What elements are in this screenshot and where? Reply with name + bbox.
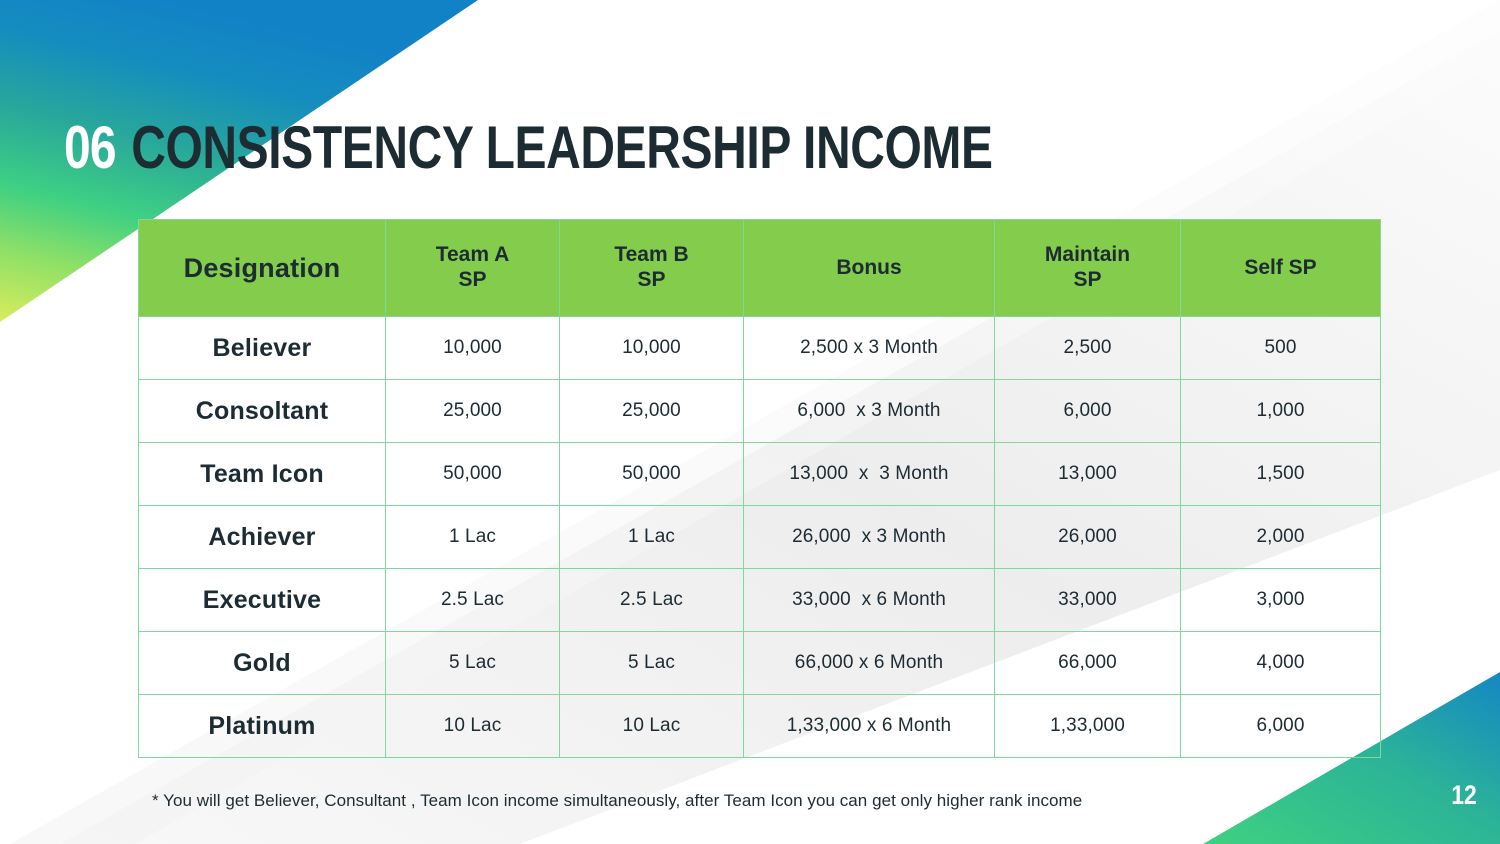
cell-self-sp: 1,000 (1181, 380, 1381, 443)
cell-maintain-sp: 2,500 (995, 317, 1181, 380)
cell-maintain-sp: 1,33,000 (995, 695, 1181, 758)
cell-designation: Achiever (139, 506, 386, 569)
column-header-team-a-line2: SP (392, 268, 553, 293)
cell-team-b-sp: 10 Lac (560, 695, 744, 758)
cell-bonus: 33,000 x 6 Month (744, 569, 995, 632)
income-table: Designation Team A SP Team B SP Bonus Ma… (138, 219, 1381, 758)
cell-maintain-sp: 66,000 (995, 632, 1181, 695)
cell-designation: Believer (139, 317, 386, 380)
cell-team-a-sp: 50,000 (386, 443, 560, 506)
cell-bonus: 2,500 x 3 Month (744, 317, 995, 380)
cell-team-a-sp: 5 Lac (386, 632, 560, 695)
cell-team-b-sp: 5 Lac (560, 632, 744, 695)
table-row[interactable]: Consoltant 25,000 25,000 6,000 x 3 Month… (139, 380, 1381, 443)
cell-self-sp: 500 (1181, 317, 1381, 380)
cell-team-b-sp: 1 Lac (560, 506, 744, 569)
cell-self-sp: 2,000 (1181, 506, 1381, 569)
column-header-maintain-line1: Maintain (1045, 243, 1130, 266)
column-header-designation[interactable]: Designation (139, 220, 386, 317)
cell-team-b-sp: 10,000 (560, 317, 744, 380)
cell-designation: Executive (139, 569, 386, 632)
column-header-team-b-line1: Team B (614, 243, 688, 266)
table-row[interactable]: Platinum 10 Lac 10 Lac 1,33,000 x 6 Mont… (139, 695, 1381, 758)
cell-maintain-sp: 26,000 (995, 506, 1181, 569)
cell-self-sp: 1,500 (1181, 443, 1381, 506)
column-header-team-a-line1: Team A (436, 243, 510, 266)
cell-team-b-sp: 25,000 (560, 380, 744, 443)
title-section-number: 06 (64, 118, 116, 178)
cell-self-sp: 4,000 (1181, 632, 1381, 695)
cell-team-a-sp: 2.5 Lac (386, 569, 560, 632)
column-header-team-b-sp[interactable]: Team B SP (560, 220, 744, 317)
cell-team-a-sp: 25,000 (386, 380, 560, 443)
column-header-team-a-sp[interactable]: Team A SP (386, 220, 560, 317)
cell-bonus: 1,33,000 x 6 Month (744, 695, 995, 758)
cell-maintain-sp: 6,000 (995, 380, 1181, 443)
cell-designation: Gold (139, 632, 386, 695)
column-header-maintain-line2: SP (1001, 268, 1174, 293)
cell-designation: Platinum (139, 695, 386, 758)
column-header-team-b-line2: SP (566, 268, 737, 293)
income-table-container: Designation Team A SP Team B SP Bonus Ma… (138, 219, 1380, 758)
title-heading-text: CONSISTENCY LEADERSHIP INCOME (120, 118, 993, 178)
column-header-maintain-sp[interactable]: Maintain SP (995, 220, 1181, 317)
cell-team-a-sp: 10,000 (386, 317, 560, 380)
slide-canvas: 06 CONSISTENCY LEADERSHIP INCOME Designa… (0, 0, 1500, 844)
table-row[interactable]: Executive 2.5 Lac 2.5 Lac 33,000 x 6 Mon… (139, 569, 1381, 632)
cell-team-a-sp: 1 Lac (386, 506, 560, 569)
table-row[interactable]: Gold 5 Lac 5 Lac 66,000 x 6 Month 66,000… (139, 632, 1381, 695)
cell-self-sp: 6,000 (1181, 695, 1381, 758)
column-header-bonus[interactable]: Bonus (744, 220, 995, 317)
cell-bonus: 6,000 x 3 Month (744, 380, 995, 443)
cell-self-sp: 3,000 (1181, 569, 1381, 632)
cell-designation: Consoltant (139, 380, 386, 443)
cell-designation: Team Icon (139, 443, 386, 506)
cell-maintain-sp: 13,000 (995, 443, 1181, 506)
cell-bonus: 26,000 x 3 Month (744, 506, 995, 569)
cell-team-b-sp: 50,000 (560, 443, 744, 506)
table-row[interactable]: Believer 10,000 10,000 2,500 x 3 Month 2… (139, 317, 1381, 380)
cell-team-b-sp: 2.5 Lac (560, 569, 744, 632)
cell-bonus: 66,000 x 6 Month (744, 632, 995, 695)
table-row[interactable]: Team Icon 50,000 50,000 13,000 x 3 Month… (139, 443, 1381, 506)
column-header-self-sp[interactable]: Self SP (1181, 220, 1381, 317)
page-number: 12 (1447, 782, 1481, 809)
table-header-row: Designation Team A SP Team B SP Bonus Ma… (139, 220, 1381, 317)
footnote-text: * You will get Believer, Consultant , Te… (152, 791, 1082, 811)
cell-maintain-sp: 33,000 (995, 569, 1181, 632)
income-table-body: Believer 10,000 10,000 2,500 x 3 Month 2… (139, 317, 1381, 758)
table-row[interactable]: Achiever 1 Lac 1 Lac 26,000 x 3 Month 26… (139, 506, 1381, 569)
cell-bonus: 13,000 x 3 Month (744, 443, 995, 506)
cell-team-a-sp: 10 Lac (386, 695, 560, 758)
page-title: 06 CONSISTENCY LEADERSHIP INCOME (64, 118, 1211, 178)
